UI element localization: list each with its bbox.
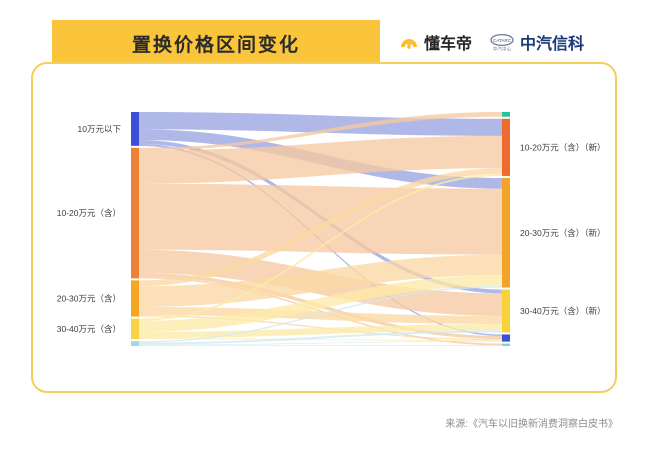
sankey-node-L1[interactable] (131, 148, 139, 279)
sankey-node-R0[interactable] (502, 112, 510, 117)
svg-text:中汽中心: 中汽中心 (493, 46, 512, 53)
brand-dongchedi: 懂车帝 (398, 30, 472, 54)
sankey-node-L4[interactable] (131, 341, 139, 346)
sankey-links (139, 112, 502, 346)
sankey-link (139, 184, 502, 255)
sankey-chart: 10万元以下10-20万元（含）20-30万元（含）30-40万元（含）10-2… (31, 62, 617, 393)
sankey-node-label-R1: 10-20万元（含）（新） (520, 142, 606, 152)
sankey-node-label-L2: 20-30万元（含） (57, 293, 121, 303)
sankey-node-label-R2: 20-30万元（含）（新） (520, 228, 606, 238)
sankey-node-label-L1: 10-20万元（含） (57, 208, 121, 218)
sankey-svg: 10万元以下10-20万元（含）20-30万元（含）30-40万元（含）10-2… (31, 62, 617, 393)
sankey-node-R1[interactable] (502, 119, 510, 176)
sankey-node-label-R3: 30-40万元（含）（新） (520, 306, 606, 316)
page-title: 置换价格区间变化 (132, 30, 300, 57)
brand-caeri: CATARC 中汽中心 中汽信科 (488, 30, 584, 54)
sankey-node-label-L3: 30-40万元（含） (57, 324, 121, 334)
sankey-node-L3[interactable] (131, 319, 139, 340)
dongchedi-logo-icon (398, 31, 420, 53)
sankey-node-R5[interactable] (502, 344, 510, 346)
caeri-label: 中汽信科 (520, 30, 584, 54)
caeri-logo-icon: CATARC 中汽中心 (488, 32, 516, 52)
source-note: 来源:《汽车以旧换新消费洞察白皮书》 (445, 415, 618, 430)
svg-text:CATARC: CATARC (493, 38, 512, 43)
sankey-node-label-L0: 10万元以下 (78, 124, 122, 134)
screenshot-root: 置换价格区间变化 懂车帝 CATARC 中汽中心 (0, 0, 650, 450)
sankey-node-R2[interactable] (502, 178, 510, 288)
brand-logos: 懂车帝 CATARC 中汽中心 中汽信科 (398, 26, 584, 58)
title-banner: 置换价格区间变化 (52, 20, 380, 66)
dongchedi-label: 懂车帝 (424, 30, 472, 54)
sankey-node-L0[interactable] (131, 112, 139, 146)
sankey-node-L2[interactable] (131, 280, 139, 316)
sankey-node-R4[interactable] (502, 334, 510, 341)
sankey-link (139, 345, 502, 346)
sankey-node-R3[interactable] (502, 290, 510, 333)
